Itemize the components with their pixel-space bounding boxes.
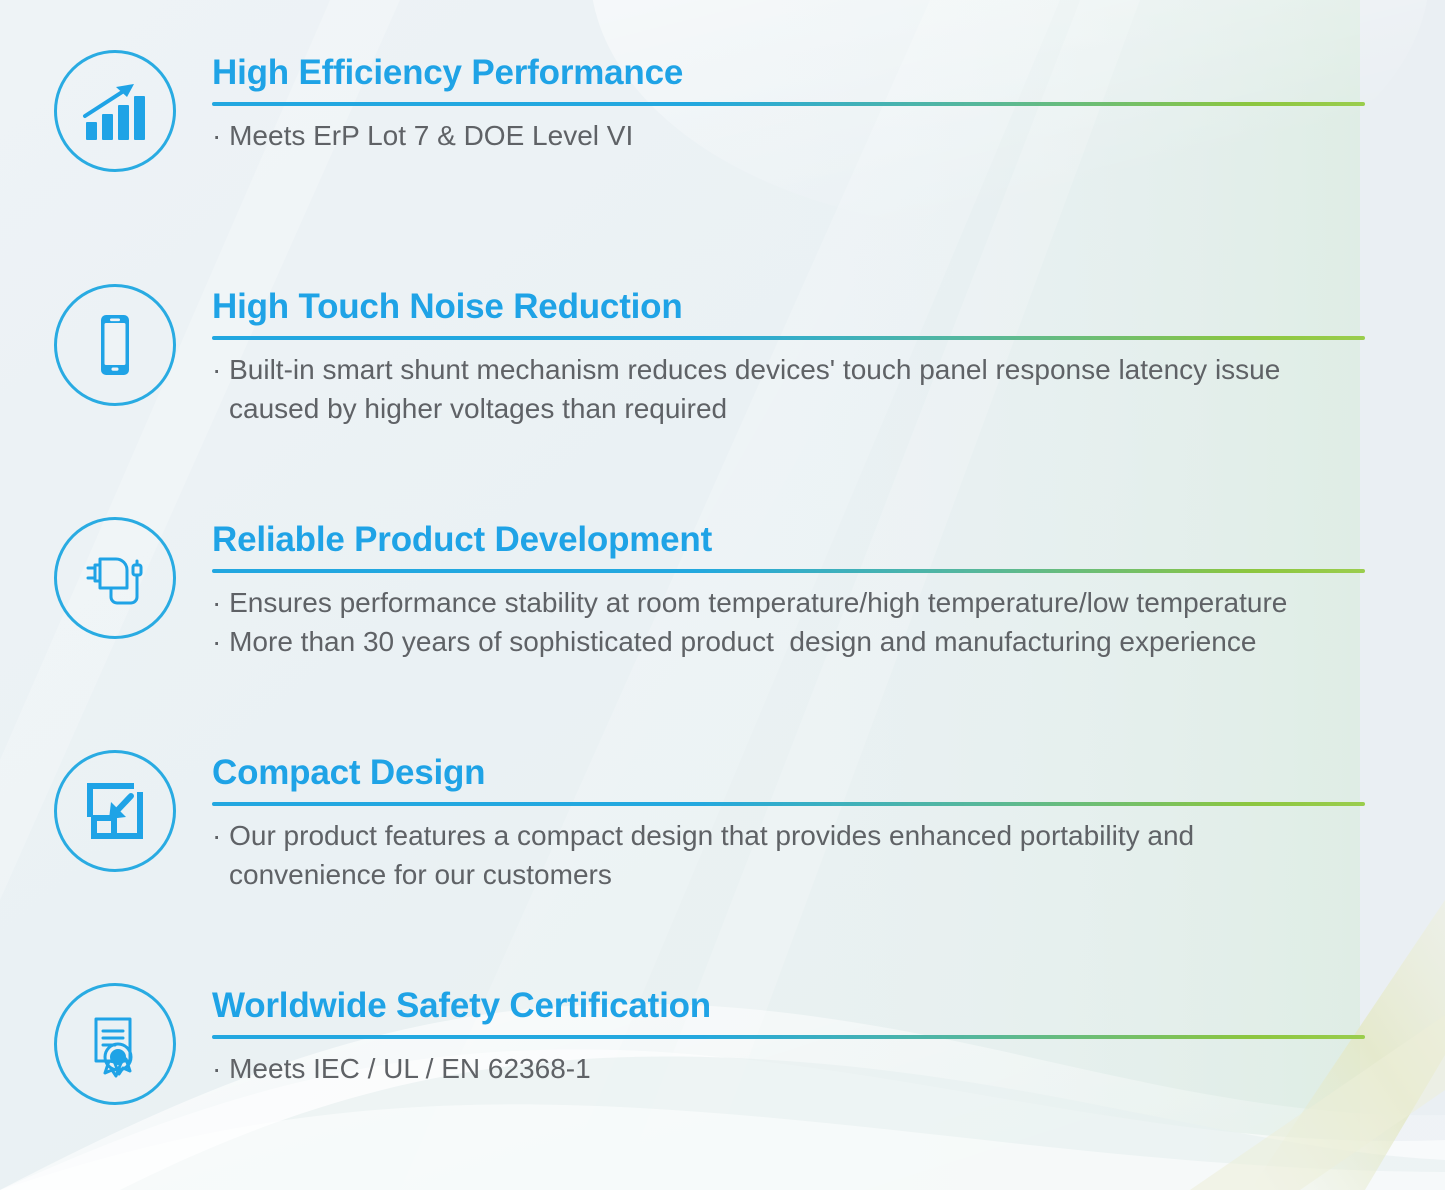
feature-list: High Efficiency Performance · Meets ErP …: [0, 0, 1445, 1190]
feature-bullets: · Meets ErP Lot 7 & DOE Level VI: [212, 117, 1445, 156]
feature-bullet-line: · More than 30 years of sophisticated pr…: [212, 623, 1445, 662]
feature-body: Reliable Product Development · Ensures p…: [212, 517, 1445, 662]
feature-bullet-line: · Meets IEC / UL / EN 62368-1: [212, 1050, 1445, 1089]
feature-bullet-line: · Our product features a compact design …: [212, 817, 1445, 856]
feature-bullets: · Meets IEC / UL / EN 62368-1: [212, 1050, 1445, 1089]
feature-body: High Efficiency Performance · Meets ErP …: [212, 50, 1445, 156]
feature-bullets: · Ensures performance stability at room …: [212, 584, 1445, 661]
feature-item-compact-design: Compact Design · Our product features a …: [0, 750, 1445, 895]
feature-title: High Efficiency Performance: [212, 52, 1445, 93]
feature-bullets: · Our product features a compact design …: [212, 817, 1445, 894]
feature-bullet-line: · Built-in smart shunt mechanism reduces…: [212, 351, 1445, 390]
feature-title: High Touch Noise Reduction: [212, 286, 1445, 327]
feature-body: Worldwide Safety Certification · Meets I…: [212, 983, 1445, 1089]
feature-body: High Touch Noise Reduction · Built-in sm…: [212, 284, 1445, 429]
feature-divider: [212, 569, 1365, 573]
smartphone-icon: [54, 284, 176, 406]
feature-item-worldwide-safety-certification: Worldwide Safety Certification · Meets I…: [0, 983, 1445, 1105]
feature-title: Worldwide Safety Certification: [212, 985, 1445, 1026]
feature-title: Compact Design: [212, 752, 1445, 793]
feature-item-reliable-product-development: Reliable Product Development · Ensures p…: [0, 517, 1445, 662]
bar-chart-growth-icon: [54, 50, 176, 172]
feature-divider: [212, 336, 1365, 340]
feature-divider: [212, 102, 1365, 106]
feature-title: Reliable Product Development: [212, 519, 1445, 560]
feature-body: Compact Design · Our product features a …: [212, 750, 1445, 895]
power-adapter-icon: [54, 517, 176, 639]
certificate-award-icon: [54, 983, 176, 1105]
feature-bullet-line-continued: caused by higher voltages than required: [212, 390, 1445, 429]
feature-bullets: · Built-in smart shunt mechanism reduces…: [212, 351, 1445, 428]
feature-bullet-line-continued: convenience for our customers: [212, 856, 1445, 895]
compact-resize-icon: [54, 750, 176, 872]
feature-bullet-line: · Meets ErP Lot 7 & DOE Level VI: [212, 117, 1445, 156]
feature-bullet-line: · Ensures performance stability at room …: [212, 584, 1445, 623]
feature-divider: [212, 802, 1365, 806]
feature-item-high-touch-noise-reduction: High Touch Noise Reduction · Built-in sm…: [0, 284, 1445, 429]
feature-item-high-efficiency-performance: High Efficiency Performance · Meets ErP …: [0, 50, 1445, 172]
feature-divider: [212, 1035, 1365, 1039]
